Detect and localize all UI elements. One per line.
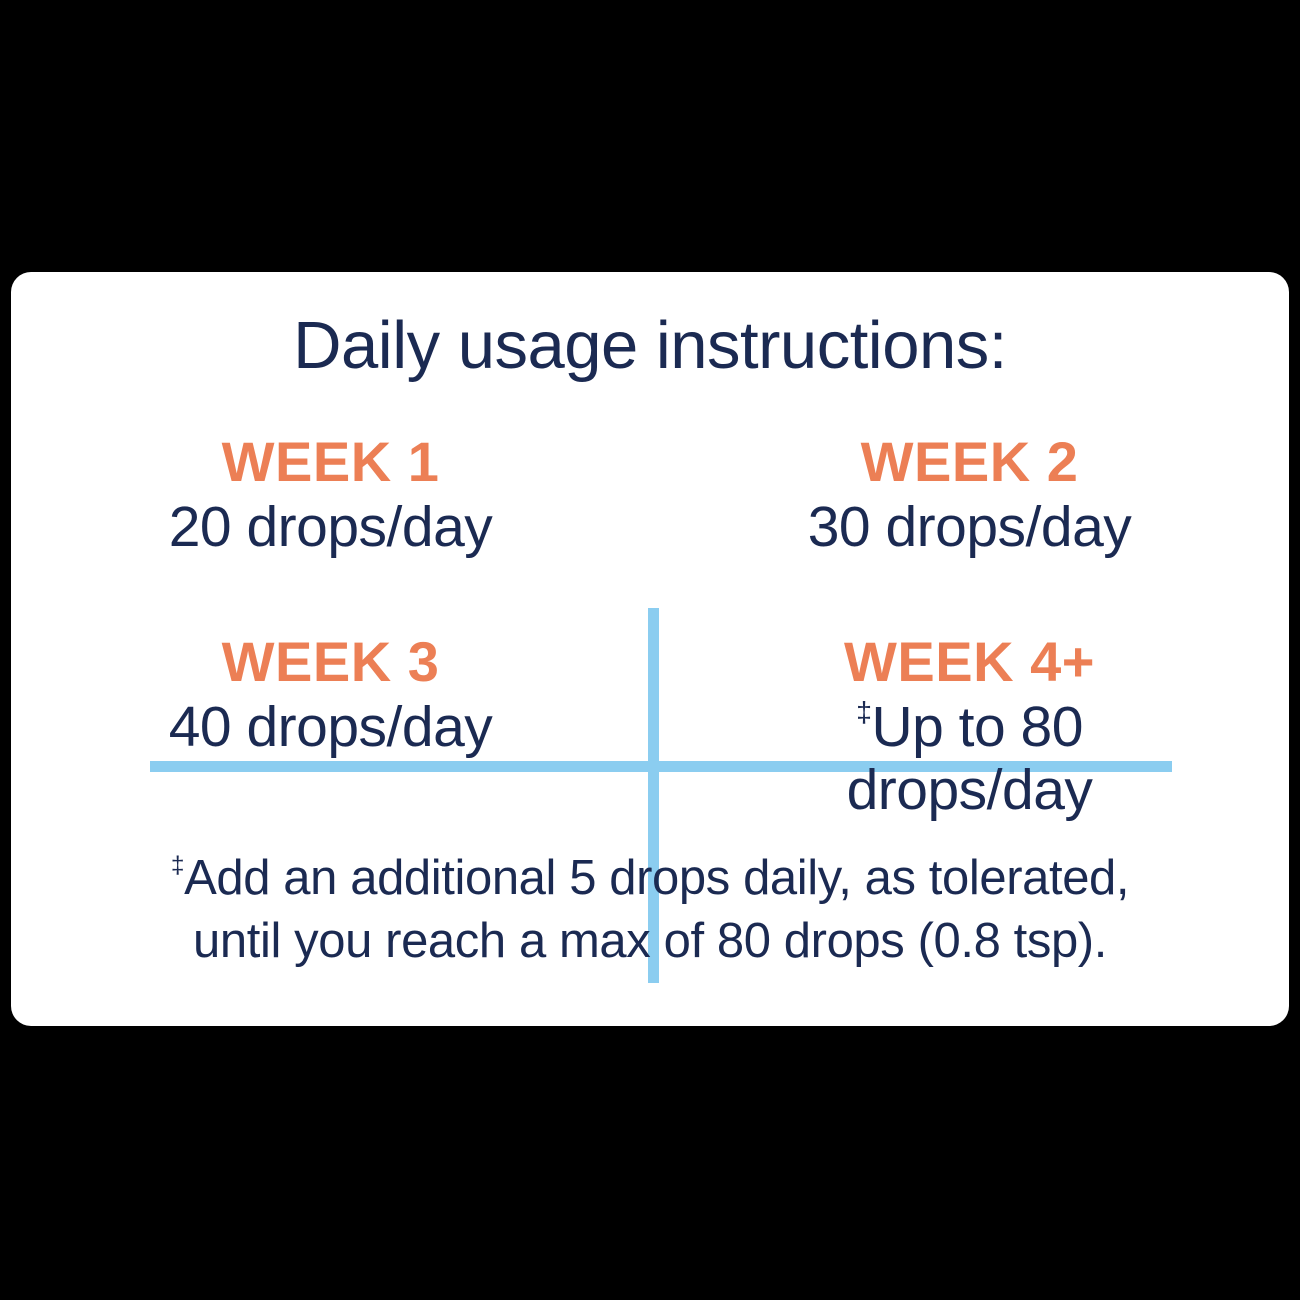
footnote-line-2: until you reach a max of 80 drops (0.8 t… bbox=[11, 910, 1289, 973]
schedule-cell-week-2: WEEK 2 30 drops/day bbox=[650, 432, 1289, 559]
page-title: Daily usage instructions: bbox=[11, 312, 1289, 379]
dose-footnote-marker-4: ‡ bbox=[856, 697, 871, 729]
dose-value-3: 40 drops/day bbox=[11, 696, 650, 759]
footnote-line-1: ‡Add an additional 5 drops daily, as tol… bbox=[11, 847, 1289, 910]
dose-value-2: 30 drops/day bbox=[650, 496, 1289, 559]
screenshot-stage: Daily usage instructions: WEEK 1 20 drop… bbox=[0, 0, 1300, 1300]
footnote-line-1-text: Add an additional 5 drops daily, as tole… bbox=[184, 851, 1129, 905]
footnote-marker: ‡ bbox=[171, 852, 184, 879]
schedule-cell-week-3: WEEK 3 40 drops/day bbox=[11, 632, 650, 759]
dose-value-4: ‡Up to 80 drops/day bbox=[760, 696, 1180, 821]
week-label-1: WEEK 1 bbox=[11, 432, 650, 492]
week-label-2: WEEK 2 bbox=[650, 432, 1289, 492]
footnote: ‡Add an additional 5 drops daily, as tol… bbox=[11, 847, 1289, 972]
daily-usage-card: Daily usage instructions: WEEK 1 20 drop… bbox=[11, 272, 1289, 1026]
week-label-4: WEEK 4+ bbox=[650, 632, 1289, 692]
schedule-cell-week-1: WEEK 1 20 drops/day bbox=[11, 432, 650, 559]
dose-value-1: 20 drops/day bbox=[11, 496, 650, 559]
dose-value-4-text: Up to 80 drops/day bbox=[847, 695, 1093, 822]
dosage-schedule-grid: WEEK 1 20 drops/day WEEK 2 30 drops/day … bbox=[11, 432, 1289, 824]
schedule-cell-week-4-plus: WEEK 4+ ‡Up to 80 drops/day bbox=[650, 632, 1289, 822]
week-label-3: WEEK 3 bbox=[11, 632, 650, 692]
